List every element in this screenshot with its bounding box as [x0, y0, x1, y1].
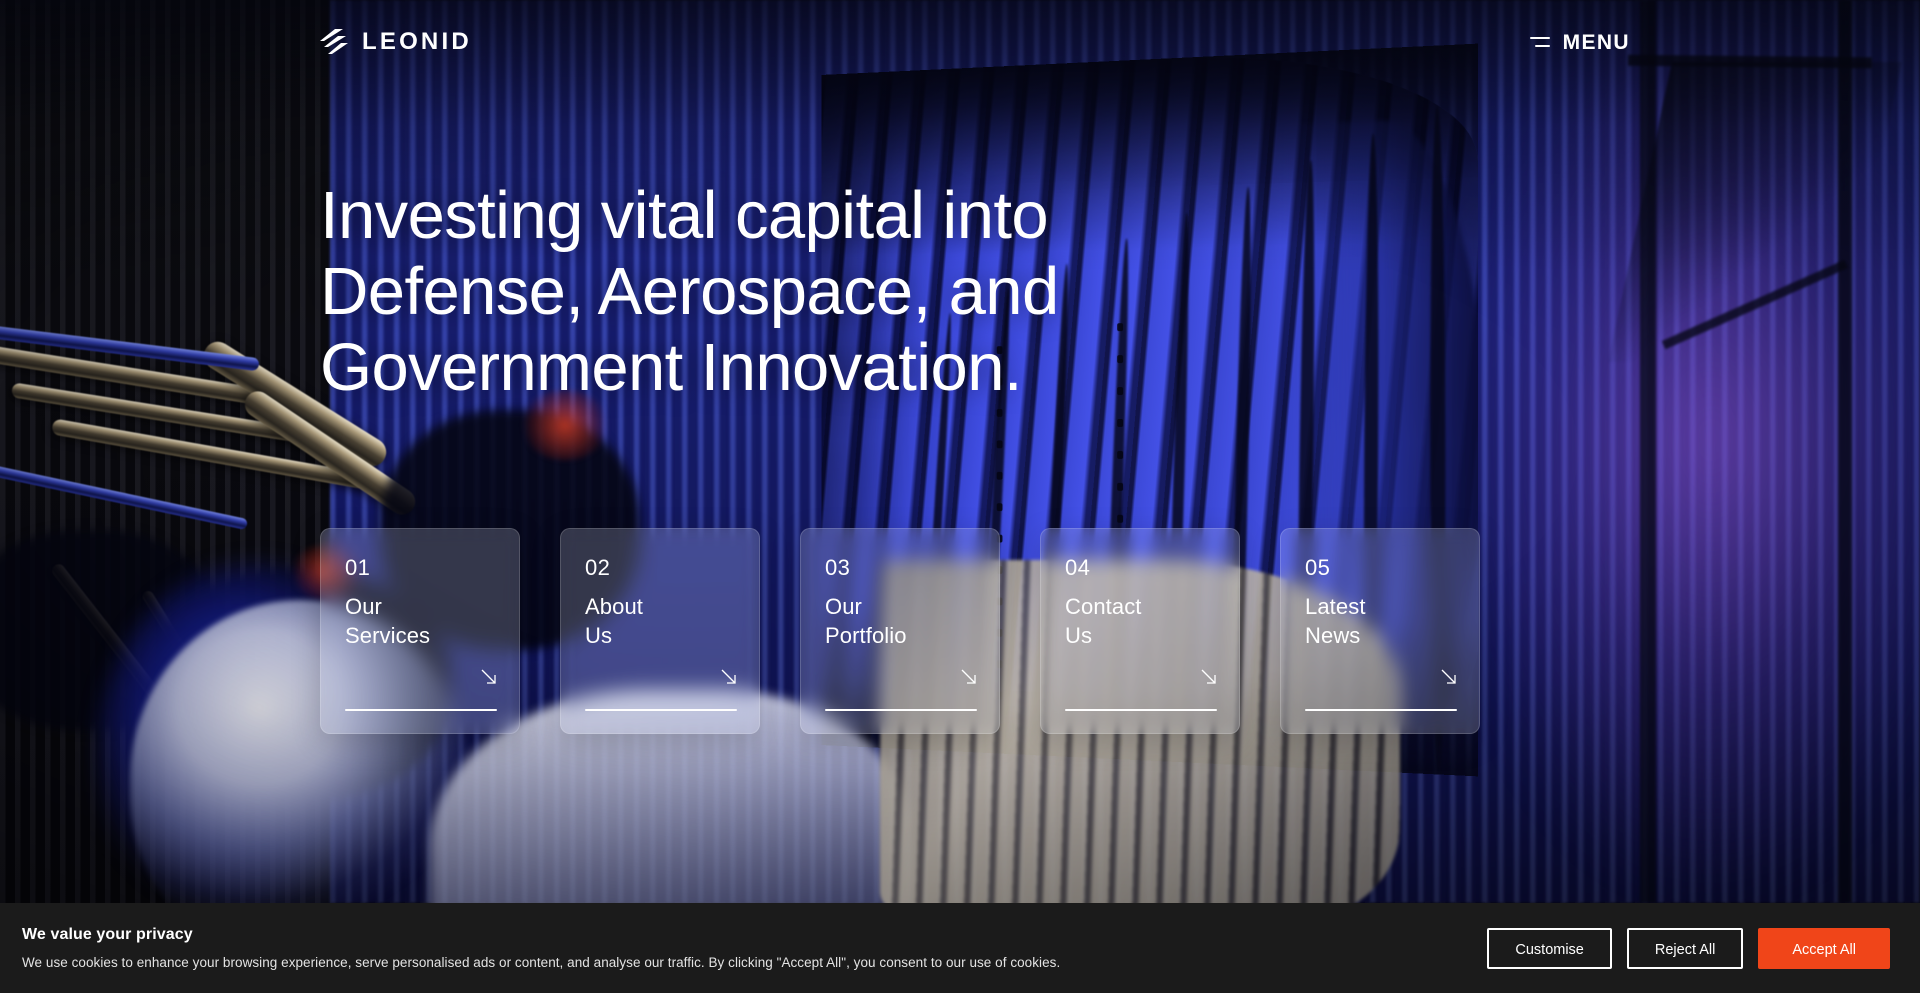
nozzle-vent: [1117, 451, 1123, 459]
cookie-copy: We value your privacy We use cookies to …: [22, 927, 1060, 970]
card-title-line: About: [585, 592, 737, 621]
landing-page: LEONID MENU Investing vital capital into…: [0, 0, 1920, 993]
page-title: Investing vital capital intoDefense, Aer…: [320, 178, 1059, 406]
card-title-line: Us: [1065, 621, 1217, 650]
quick-link-card[interactable]: 01OurServices: [320, 528, 520, 734]
nozzle-vent: [997, 440, 1003, 448]
arrow-down-right-icon: [480, 668, 497, 685]
card-underline: [825, 709, 977, 711]
arrow-down-right-icon: [960, 668, 977, 685]
card-title-line: Portfolio: [825, 621, 977, 650]
card-title-line: Us: [585, 621, 737, 650]
card-underline: [1065, 709, 1217, 711]
card-number: 01: [345, 557, 497, 579]
card-underline: [1305, 709, 1457, 711]
card-title-line: Latest: [1305, 592, 1457, 621]
card-title: OurPortfolio: [825, 592, 977, 650]
brand-name: LEONID: [362, 30, 472, 54]
support-girder: [1640, 0, 1656, 903]
hamburger-icon: [1530, 37, 1550, 47]
card-title: OurServices: [345, 592, 497, 650]
nozzle-vent: [1117, 387, 1123, 395]
nozzle-vent: [1117, 483, 1123, 491]
quick-link-card[interactable]: 05LatestNews: [1280, 528, 1480, 734]
cookie-title: We value your privacy: [22, 927, 1060, 943]
nozzle-vent: [1117, 419, 1123, 427]
quick-link-card[interactable]: 04ContactUs: [1040, 528, 1240, 734]
quick-link-card[interactable]: 03OurPortfolio: [800, 528, 1000, 734]
leonid-wing-icon: [320, 29, 348, 55]
cookie-consent-banner: We value your privacy We use cookies to …: [0, 903, 1920, 993]
card-title: LatestNews: [1305, 592, 1457, 650]
cookie-actions: Customise Reject All Accept All: [1487, 928, 1890, 969]
top-navigation-bar: LEONID MENU: [0, 0, 1920, 84]
menu-label: MENU: [1563, 32, 1630, 53]
accept-all-button[interactable]: Accept All: [1758, 928, 1890, 969]
nozzle-vent: [1117, 515, 1123, 523]
card-number: 03: [825, 557, 977, 579]
card-number: 02: [585, 557, 737, 579]
nozzle-vent: [997, 409, 1003, 417]
nozzle-vent: [1117, 355, 1123, 363]
hero-section: [0, 0, 1920, 903]
brand-logo[interactable]: LEONID: [320, 29, 472, 55]
card-title-line: Services: [345, 621, 497, 650]
card-title-line: Our: [345, 592, 497, 621]
customise-button[interactable]: Customise: [1487, 928, 1612, 969]
card-title-line: Contact: [1065, 592, 1217, 621]
card-number: 05: [1305, 557, 1457, 579]
reject-all-button[interactable]: Reject All: [1627, 928, 1743, 969]
cookie-description: We use cookies to enhance your browsing …: [22, 956, 1060, 970]
card-underline: [585, 709, 737, 711]
headline-line: Government Innovation.: [320, 330, 1059, 406]
menu-button[interactable]: MENU: [1530, 32, 1630, 53]
nozzle-vent: [997, 503, 1003, 511]
card-number: 04: [1065, 557, 1217, 579]
arrow-down-right-icon: [720, 668, 737, 685]
nozzle-vent: [1117, 323, 1123, 331]
card-title-line: News: [1305, 621, 1457, 650]
card-title-line: Our: [825, 592, 977, 621]
nozzle-vent: [997, 472, 1003, 480]
quick-links-card-row: 01OurServices02AboutUs03OurPortfolio04Co…: [320, 528, 1480, 734]
arrow-down-right-icon: [1200, 668, 1217, 685]
headline-line: Defense, Aerospace, and: [320, 254, 1059, 330]
card-title: AboutUs: [585, 592, 737, 650]
blue-pipe: [0, 461, 248, 530]
card-title: ContactUs: [1065, 592, 1217, 650]
quick-link-card[interactable]: 02AboutUs: [560, 528, 760, 734]
headline-line: Investing vital capital into: [320, 178, 1059, 254]
arrow-down-right-icon: [1440, 668, 1457, 685]
card-underline: [345, 709, 497, 711]
